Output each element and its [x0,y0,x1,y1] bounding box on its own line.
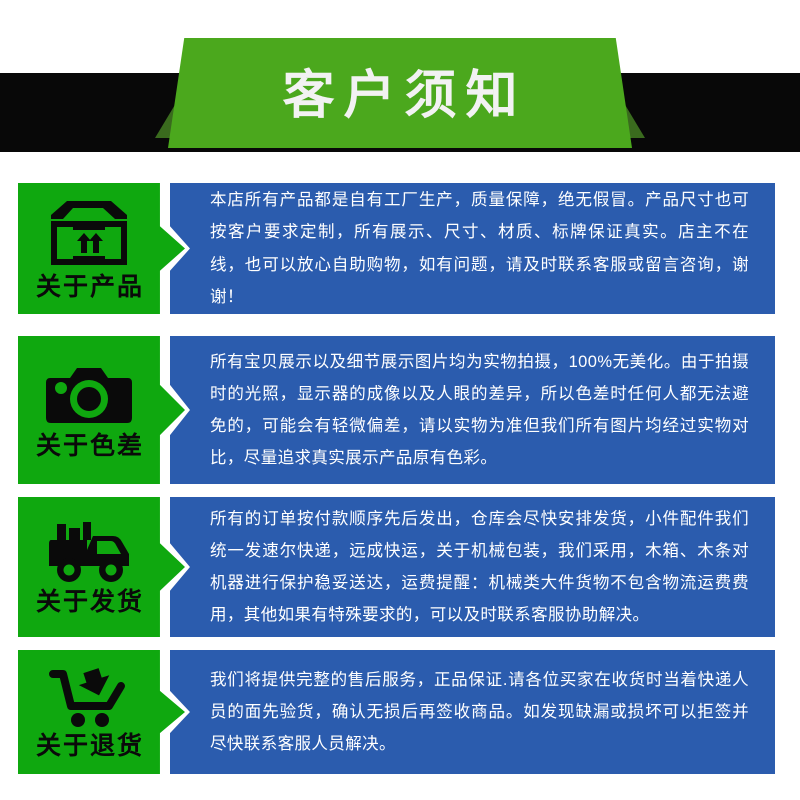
delivery-truck-icon [18,520,160,584]
icon-label-color: 关于色差 [34,434,144,459]
icon-box-return: 关于退货 [18,650,185,774]
return-cart-icon [18,666,160,728]
notice-row-return: 关于退货 我们将提供完整的售后服务，正品保证.请各位买家在收货时当着快递人员的面… [0,650,800,774]
icon-box-product: 关于产品 [18,183,185,314]
icon-box-shipping: 关于发货 [18,497,185,637]
notice-row-product: 关于产品 本店所有产品都是自有工厂生产，质量保障，绝无假冒。产品尺寸也可按客户要… [0,183,800,314]
notice-text-shipping: 所有的订单按付款顺序先后发出，仓库会尽快安排发货，小件配件我们统一发速尔快递，远… [210,503,749,632]
icon-label-return: 关于退货 [34,734,144,759]
notice-row-shipping: 关于发货 所有的订单按付款顺序先后发出，仓库会尽快安排发货，小件配件我们统一发速… [0,497,800,637]
text-panel-return: 我们将提供完整的售后服务，正品保证.请各位买家在收货时当着快递人员的面先验货，确… [170,650,775,774]
package-box-icon [18,197,160,269]
text-panel-shipping: 所有的订单按付款顺序先后发出，仓库会尽快安排发货，小件配件我们统一发速尔快递，远… [170,497,775,637]
page-title: 客户须知 [273,64,526,122]
notice-text-product: 本店所有产品都是自有工厂生产，质量保障，绝无假冒。产品尺寸也可按客户要求定制，所… [210,184,749,313]
notice-text-return: 我们将提供完整的售后服务，正品保证.请各位买家在收货时当着快递人员的面先验货，确… [210,664,749,761]
customer-notice-page: 客户须知 [0,0,800,800]
header-banner: 客户须知 [0,0,800,160]
text-panel-product: 本店所有产品都是自有工厂生产，质量保障，绝无假冒。产品尺寸也可按客户要求定制，所… [170,183,775,314]
notice-row-color: 关于色差 所有宝贝展示以及细节展示图片均为实物拍摄，100%无美化。由于拍摄时的… [0,336,800,484]
notice-text-color: 所有宝贝展示以及细节展示图片均为实物拍摄，100%无美化。由于拍摄时的光照，显示… [210,346,749,475]
text-panel-color: 所有宝贝展示以及细节展示图片均为实物拍摄，100%无美化。由于拍摄时的光照，显示… [170,336,775,484]
icon-label-product: 关于产品 [34,275,144,300]
icon-label-shipping: 关于发货 [34,590,144,615]
ribbon-banner: 客户须知 [168,38,632,148]
camera-icon [18,362,160,428]
icon-box-color: 关于色差 [18,336,185,484]
